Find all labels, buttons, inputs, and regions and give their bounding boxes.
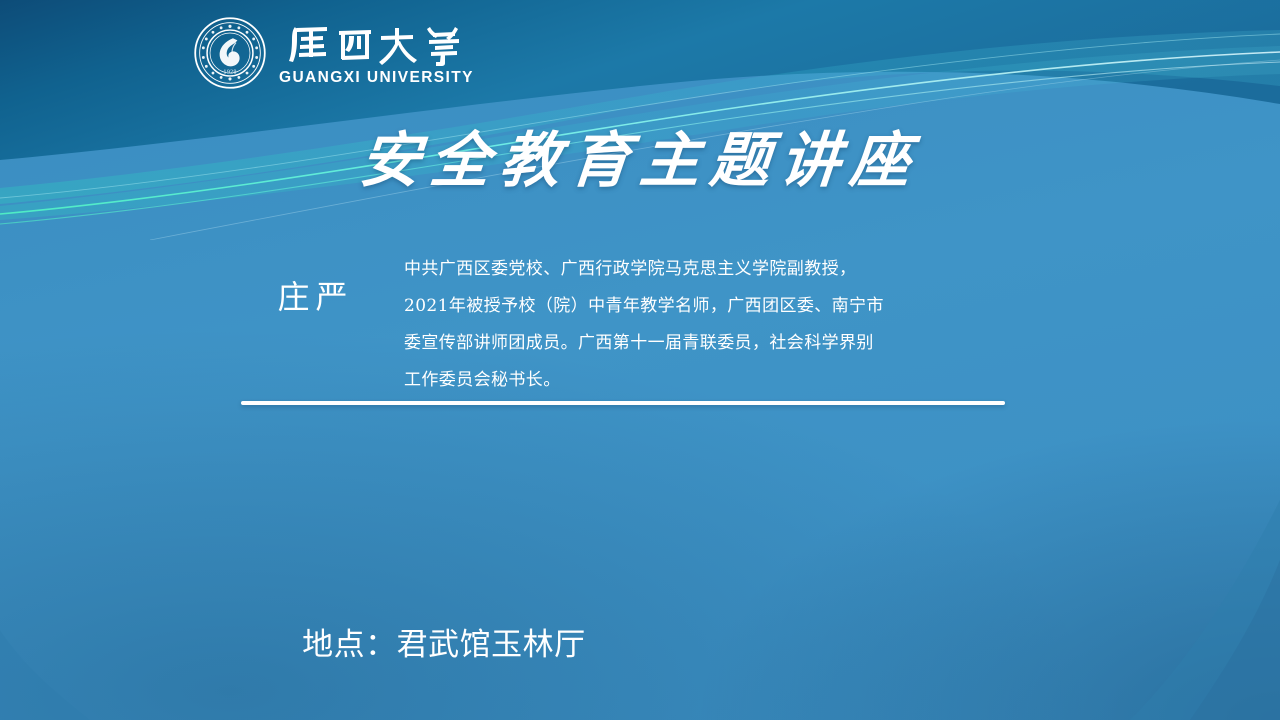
presentation-slide: 1928 bbox=[0, 0, 1280, 720]
bio-line: 2021年被授予校（院）中青年教学名师，广西团区委、南宁市 bbox=[404, 288, 1004, 325]
bio-line: 委宣传部讲师团成员。广西第十一届青联委员，社会科学界别 bbox=[404, 325, 1004, 362]
event-details: 地点：君武馆玉林厅 时间：2025年10月16日上午 9:00 bbox=[240, 552, 1140, 720]
horizontal-divider bbox=[241, 401, 1005, 405]
corner-accent-graphic-left bbox=[0, 550, 140, 720]
university-logo: 1928 bbox=[193, 16, 474, 90]
wordmark: GUANGXI UNIVERSITY bbox=[279, 19, 474, 87]
bio-line: 工作委员会秘书长。 bbox=[404, 362, 1004, 399]
speaker-name: 庄严 bbox=[243, 278, 388, 316]
wordmark-chinese-calligraphy bbox=[287, 19, 465, 67]
svg-text:1928: 1928 bbox=[223, 70, 236, 76]
guangxi-university-seal-icon: 1928 bbox=[193, 16, 267, 90]
location-value: 君武馆玉林厅 bbox=[397, 627, 586, 663]
location-line: 地点：君武馆玉林厅 bbox=[240, 552, 1140, 720]
speaker-bio: 中共广西区委党校、广西行政学院马克思主义学院副教授， 2021年被授予校（院）中… bbox=[404, 251, 1004, 399]
wordmark-english: GUANGXI UNIVERSITY bbox=[279, 69, 474, 87]
page-title: 安全教育主题讲座 bbox=[0, 128, 1280, 194]
bio-line: 中共广西区委党校、广西行政学院马克思主义学院副教授， bbox=[404, 251, 1004, 288]
location-label: 地点： bbox=[302, 627, 397, 663]
